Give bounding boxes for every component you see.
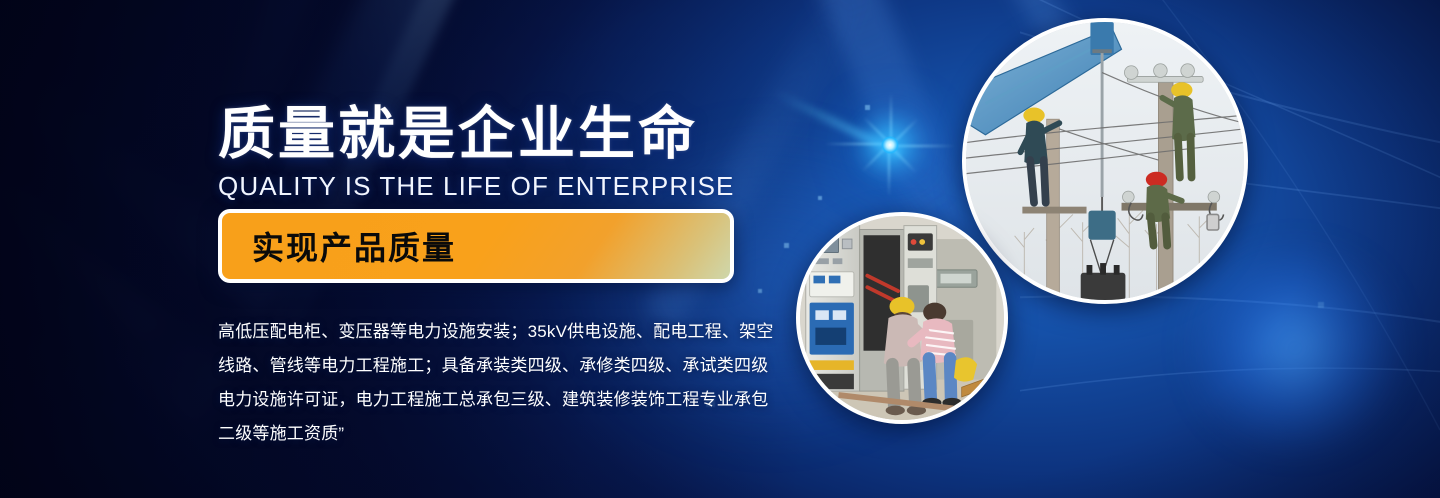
photo-power-line-workers [962,18,1248,304]
description-text: 高低压配电柜、变压器等电力设施安装；35kV供电设施、配电工程、架空线路、管线等… [218,315,774,451]
switchgear-installation-illustration [800,216,1004,420]
hero-text-block: 质量就是企业生命 QUALITY IS THE LIFE OF ENTERPRI… [218,104,778,201]
page-subtitle: QUALITY IS THE LIFE OF ENTERPRISE [218,172,778,201]
power-line-workers-illustration [966,22,1244,300]
hero-banner: 质量就是企业生命 QUALITY IS THE LIFE OF ENTERPRI… [0,0,1440,498]
page-title: 质量就是企业生命 [218,104,778,166]
cta-button-label: 实现产品质量 [252,223,456,269]
cta-button[interactable]: 实现产品质量 [218,209,734,283]
photo-switchgear-installation [796,212,1008,424]
